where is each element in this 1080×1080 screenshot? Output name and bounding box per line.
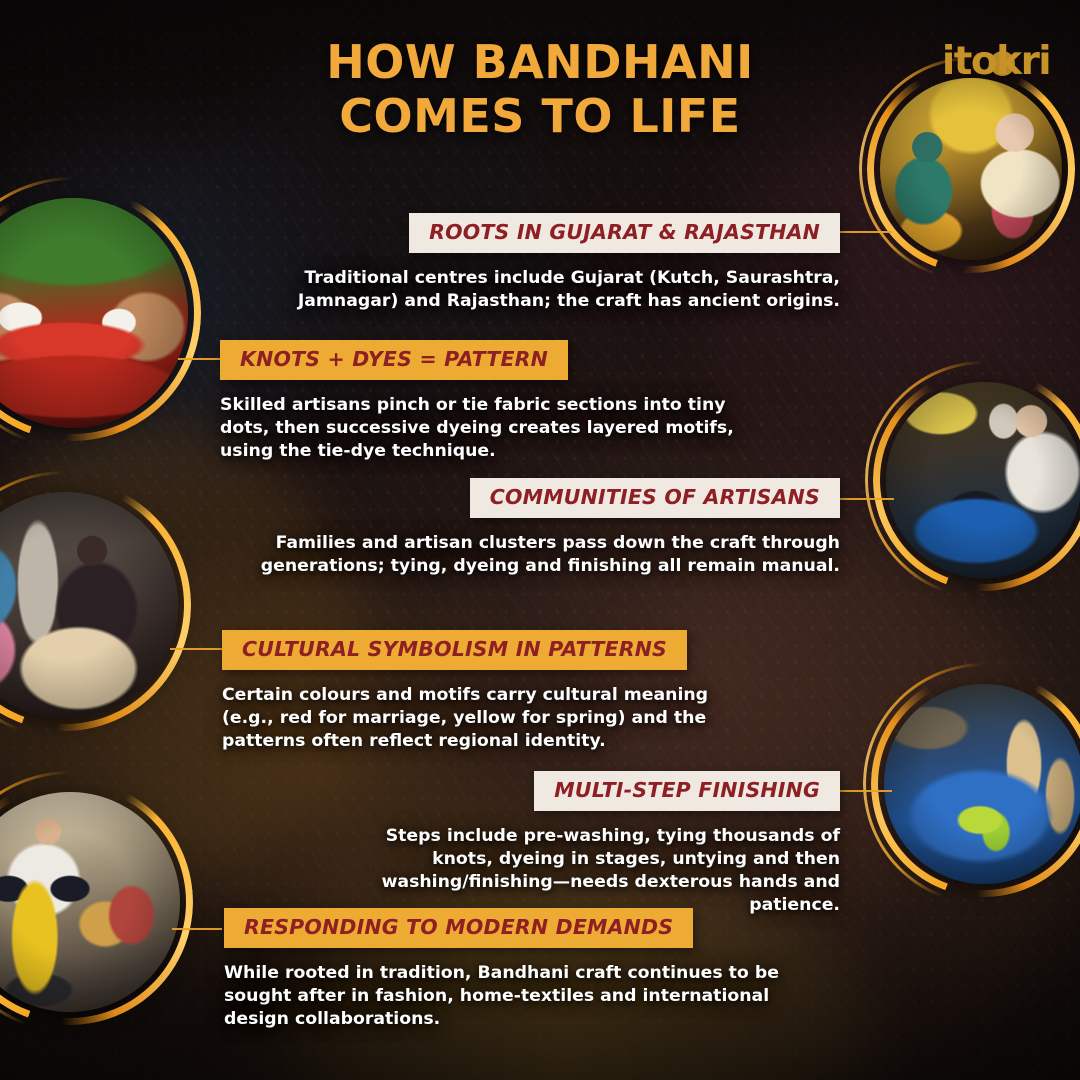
- section-modern-demands: RESPONDING TO MODERN DEMANDS While roote…: [224, 908, 794, 1031]
- page-title: HOW BANDHANI COMES TO LIFE: [0, 36, 1080, 144]
- photo-man-lifting-yellow-cloth: [0, 792, 180, 1012]
- connector-line-cultural: [170, 648, 222, 650]
- photo-women-cream-knotted-cloth: [0, 492, 178, 718]
- photo-man-dyeing-blue-tub: [886, 382, 1080, 578]
- section-header-wrap: ROOTS IN GUJARAT & RAJASTHAN: [278, 213, 840, 253]
- section-header-wrap: MULTI-STEP FINISHING: [320, 771, 840, 811]
- section-header-multi-step-finishing[interactable]: MULTI-STEP FINISHING: [534, 771, 840, 811]
- connector-line-roots: [838, 231, 892, 233]
- section-body-knots-dyes: Skilled artisans pinch or tie fabric sec…: [220, 394, 742, 463]
- section-header-cultural-symbolism[interactable]: CULTURAL SYMBOLISM IN PATTERNS: [222, 630, 687, 670]
- section-body-modern-demands: While rooted in tradition, Bandhani craf…: [224, 962, 780, 1031]
- connector-line-communities: [840, 498, 894, 500]
- section-body-communities: Families and artisan clusters pass down …: [246, 532, 840, 578]
- section-cultural-symbolism: CULTURAL SYMBOLISM IN PATTERNS Certain c…: [222, 630, 782, 753]
- photo-hands-tying-red-fabric: [0, 198, 188, 428]
- section-header-wrap: KNOTS + DYES = PATTERN: [220, 340, 760, 380]
- section-header-roots[interactable]: ROOTS IN GUJARAT & RAJASTHAN: [409, 213, 840, 253]
- itokri-logo[interactable]: itokri: [944, 38, 1048, 84]
- section-body-multi-step-finishing: Steps include pre-washing, tying thousan…: [320, 825, 840, 917]
- connector-line-modern: [172, 928, 222, 930]
- section-communities: COMMUNITIES OF ARTISANS Families and art…: [246, 478, 840, 578]
- section-header-wrap: COMMUNITIES OF ARTISANS: [246, 478, 840, 518]
- logo-disc-icon: [990, 51, 1015, 76]
- section-header-wrap: RESPONDING TO MODERN DEMANDS: [224, 908, 794, 948]
- section-header-wrap: CULTURAL SYMBOLISM IN PATTERNS: [222, 630, 782, 670]
- connector-line-knots: [178, 358, 220, 360]
- title-line-2: COMES TO LIFE: [0, 90, 1080, 144]
- photo-blue-dye-vat: [884, 684, 1080, 884]
- section-knots-dyes: KNOTS + DYES = PATTERN Skilled artisans …: [220, 340, 760, 463]
- section-body-cultural-symbolism: Certain colours and motifs carry cultura…: [222, 684, 764, 753]
- section-header-knots-dyes[interactable]: KNOTS + DYES = PATTERN: [220, 340, 568, 380]
- section-body-roots: Traditional centres include Gujarat (Kut…: [286, 267, 840, 313]
- section-header-modern-demands[interactable]: RESPONDING TO MODERN DEMANDS: [224, 908, 693, 948]
- section-roots: ROOTS IN GUJARAT & RAJASTHAN Traditional…: [278, 213, 840, 313]
- title-line-1: HOW BANDHANI: [0, 36, 1080, 90]
- section-multi-step-finishing: MULTI-STEP FINISHING Steps include pre-w…: [320, 771, 840, 917]
- section-header-communities[interactable]: COMMUNITIES OF ARTISANS: [470, 478, 840, 518]
- connector-line-finishing: [840, 790, 892, 792]
